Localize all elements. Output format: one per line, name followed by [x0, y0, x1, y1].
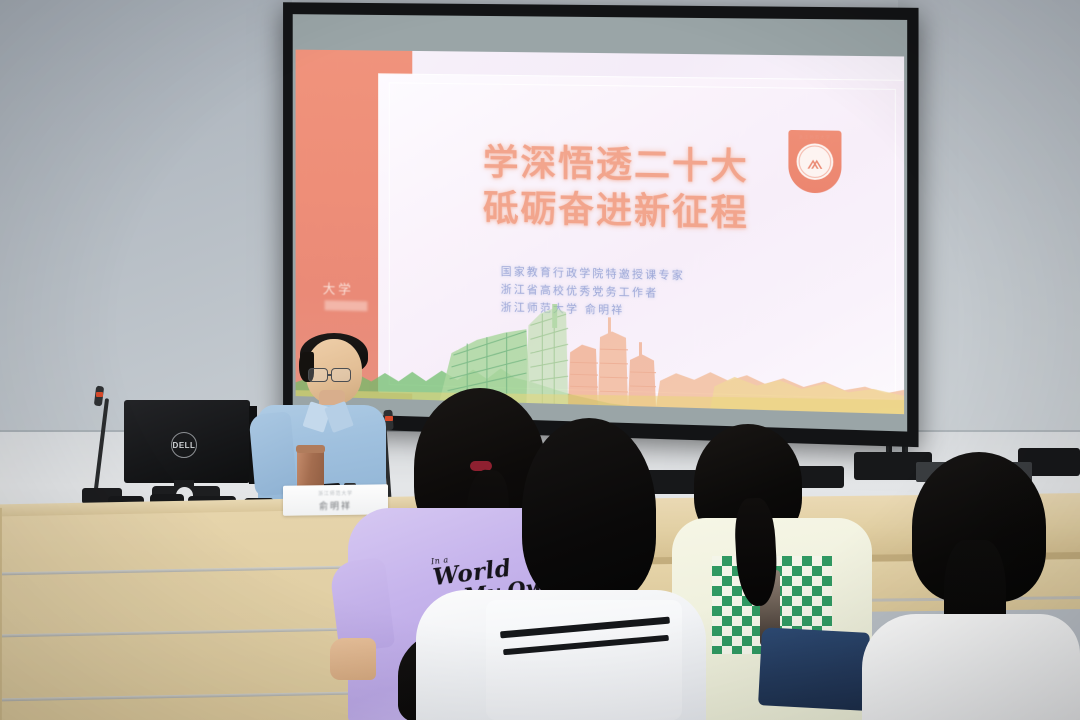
slide-title: 学深悟透二十大 砥砺奋进新征程	[407, 138, 827, 238]
speaker-glasses-right	[331, 368, 351, 382]
dell-logo: DELL	[171, 432, 197, 458]
speaker-sleeve	[249, 411, 298, 496]
emblem-arc-text: 浙江师范大学	[799, 134, 831, 141]
nameplate-logo: 浙江师范大学	[318, 490, 353, 497]
student-sailor-hair	[522, 418, 656, 604]
slide-title-line-1: 学深悟透二十大	[407, 138, 827, 191]
lecture-hall-scene: 大学 浙江师范大学 ⩕ 学深悟透二十大 砥砺奋进新征程 国	[0, 0, 1080, 720]
projection-screen: 大学 浙江师范大学 ⩕ 学深悟透二十大 砥砺奋进新征程 国	[283, 2, 918, 447]
student-purple-hand	[330, 638, 376, 680]
student-right-top	[862, 614, 1080, 720]
speaker-glasses-left	[308, 368, 328, 382]
slide-title-line-2: 砥砺奋进新征程	[407, 184, 827, 238]
microphone-right-indicator	[385, 416, 393, 421]
microphone-left-indicator	[96, 392, 103, 397]
backpack	[758, 627, 870, 711]
wall-right-panel	[898, 0, 1080, 470]
presentation-slide: 大学 浙江师范大学 ⩕ 学深悟透二十大 砥砺奋进新征程 国	[296, 50, 904, 415]
slide-city-skyline-illustration	[296, 280, 904, 414]
projection-screen-bezel: 大学 浙江师范大学 ⩕ 学深悟透二十大 砥砺奋进新征程 国	[293, 14, 907, 431]
nameplate-name: 俞明祥	[319, 499, 352, 515]
